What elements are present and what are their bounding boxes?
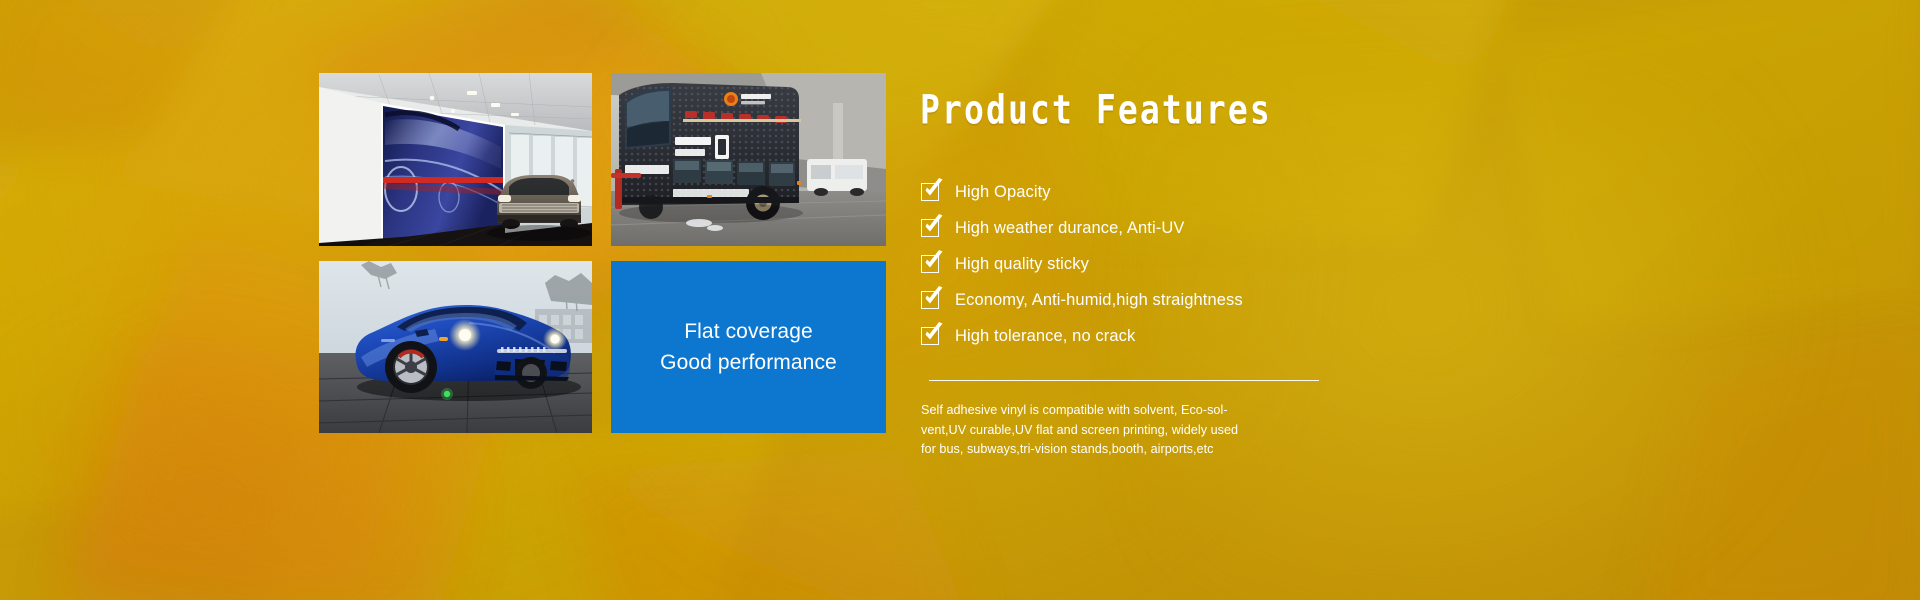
list-item: High Opacity xyxy=(921,174,1479,210)
feature-label: High tolerance, no crack xyxy=(955,327,1135,346)
checkbox-check-icon xyxy=(921,327,939,345)
feature-list: High Opacity High weather durance, Anti-… xyxy=(921,174,1479,354)
feature-label: High quality sticky xyxy=(955,255,1089,274)
checkbox-check-icon xyxy=(921,219,939,237)
page-title: Product Features xyxy=(920,87,1462,134)
gallery-image-showroom-banner[interactable] xyxy=(319,73,592,246)
list-item: High weather durance, Anti-UV xyxy=(921,210,1479,246)
description-line-1: Self adhesive vinyl is compatible with s… xyxy=(921,401,1251,420)
list-item: Economy, Anti-humid,high straightness xyxy=(921,282,1479,318)
check-glyph xyxy=(920,321,946,345)
list-item: High tolerance, no crack xyxy=(921,318,1479,354)
blue-message-panel: Flat coverage Good performance xyxy=(611,261,886,433)
checkbox-check-icon xyxy=(921,255,939,273)
showroom-illustration xyxy=(319,73,592,246)
feature-label: Economy, Anti-humid,high straightness xyxy=(955,291,1243,310)
sports-car-illustration xyxy=(319,261,592,433)
blue-panel-text: Flat coverage Good performance xyxy=(611,316,886,378)
content-stage: Flat coverage Good performance Product F… xyxy=(0,0,1920,600)
description-paragraph: Self adhesive vinyl is compatible with s… xyxy=(921,401,1251,459)
blue-panel-line-1: Flat coverage xyxy=(611,316,886,347)
checkbox-check-icon xyxy=(921,291,939,309)
feature-label: High Opacity xyxy=(955,183,1051,202)
section-divider xyxy=(929,380,1319,381)
feature-label: High weather durance, Anti-UV xyxy=(955,219,1184,238)
description-line-3: for bus, subways,tri-vision stands,booth… xyxy=(921,440,1251,459)
gallery-image-blue-sports-car[interactable] xyxy=(319,261,592,433)
list-item: High quality sticky xyxy=(921,246,1479,282)
check-glyph xyxy=(920,213,946,237)
check-glyph xyxy=(920,177,946,201)
check-glyph xyxy=(920,249,946,273)
product-features-panel: Product Features High Opacity High weath… xyxy=(919,73,1479,460)
blue-panel-line-2: Good performance xyxy=(611,347,886,378)
gallery-image-bus-wrap[interactable] xyxy=(611,73,886,246)
description-line-2: vent,UV curable,UV flat and screen print… xyxy=(921,421,1251,440)
checkbox-check-icon xyxy=(921,183,939,201)
check-glyph xyxy=(920,285,946,309)
bus-illustration xyxy=(611,73,886,246)
